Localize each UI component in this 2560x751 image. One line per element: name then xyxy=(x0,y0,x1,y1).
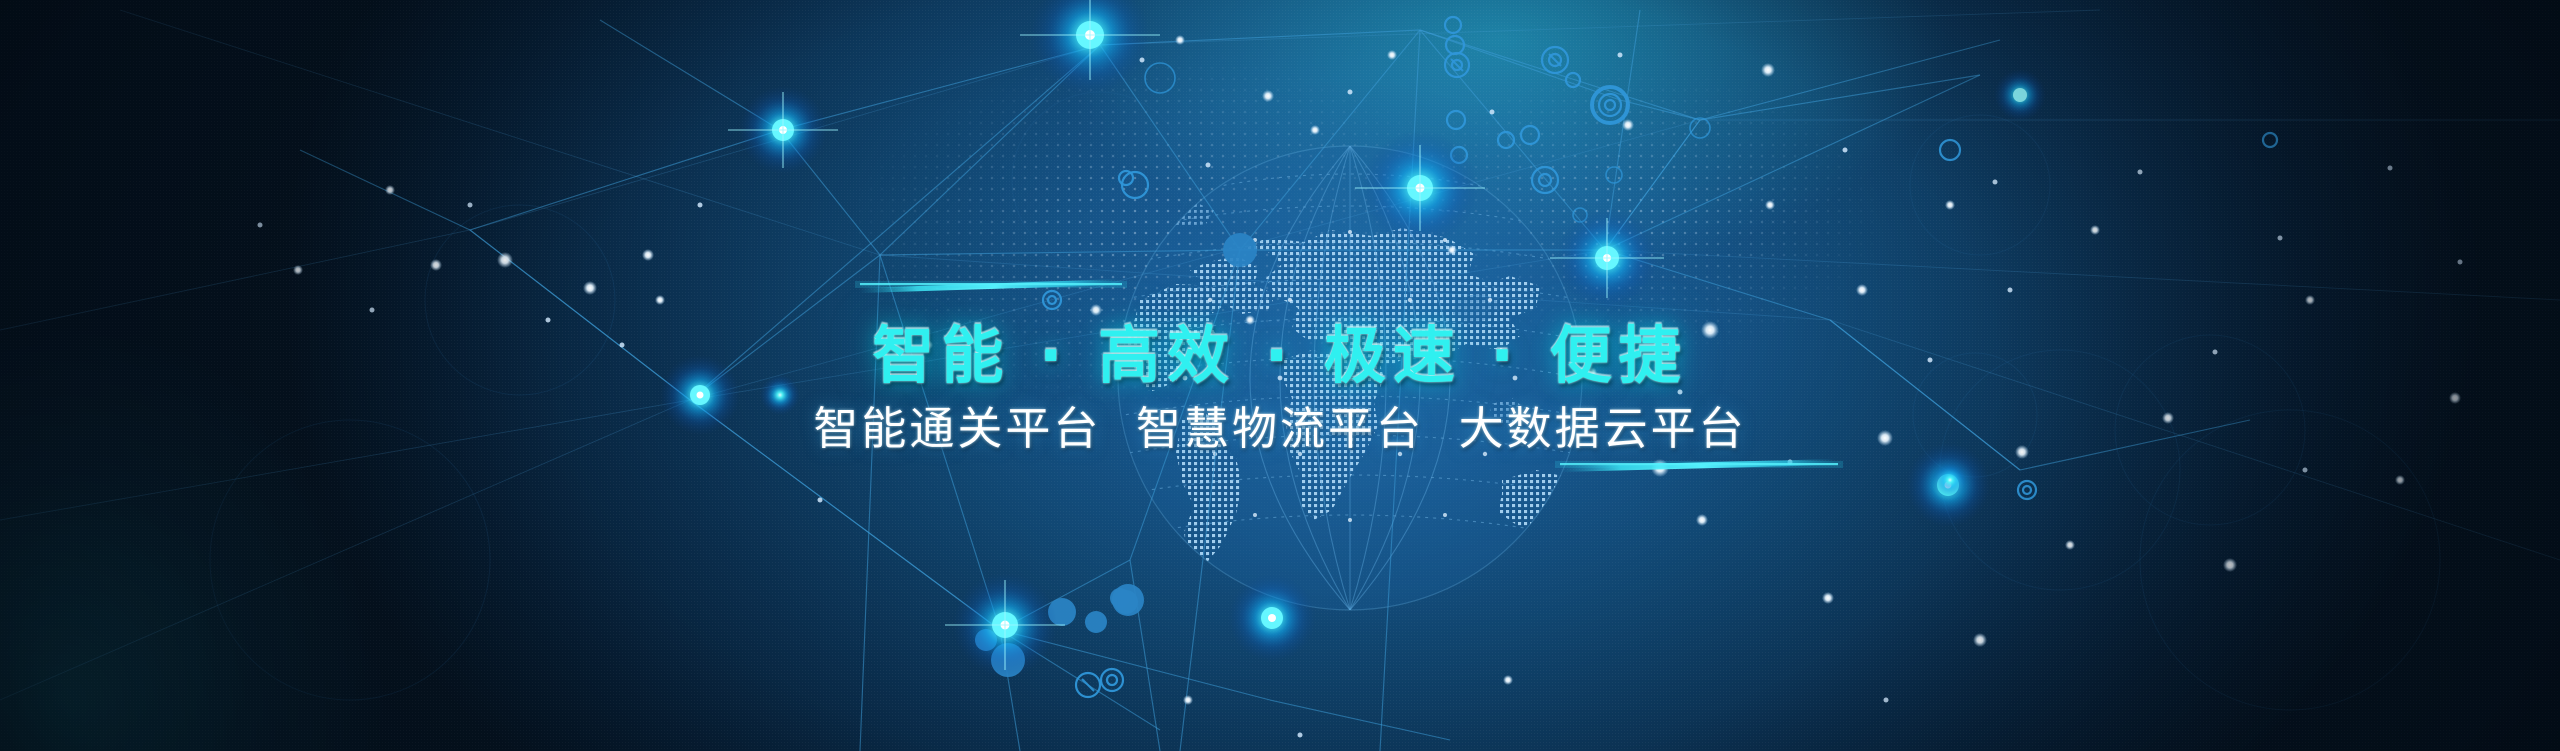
background-vignette xyxy=(0,0,2560,751)
hero-banner: 智能 · 高效 · 极速 · 便捷 智能通关平台 智慧物流平台 大数据云平台 xyxy=(0,0,2560,751)
